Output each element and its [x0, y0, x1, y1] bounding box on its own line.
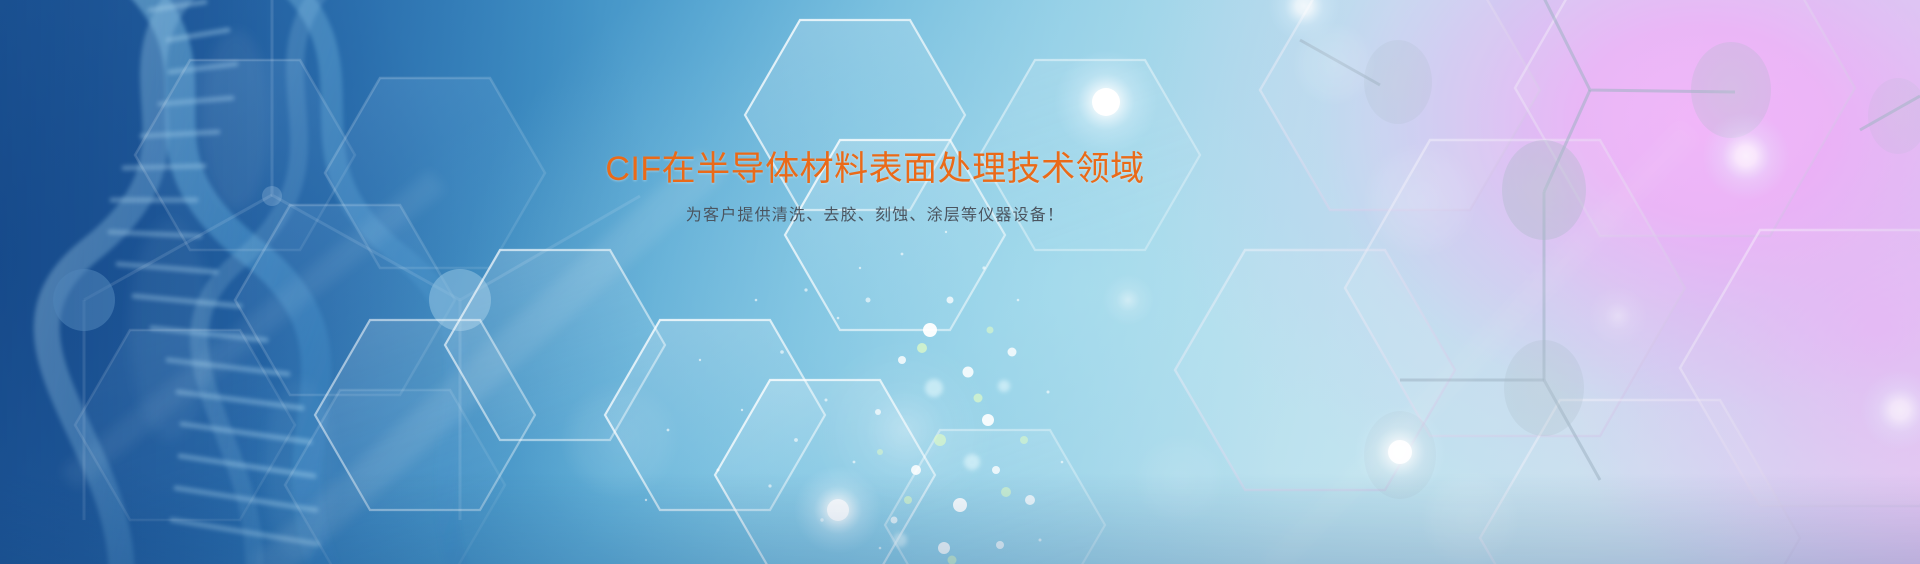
banner-artwork — [0, 0, 1920, 564]
banner-subheadline: 为客户提供清洗、去胶、刻蚀、涂层等仪器设备！ — [605, 205, 1144, 227]
hero-banner: CIF在半导体材料表面处理技术领域 为客户提供清洗、去胶、刻蚀、涂层等仪器设备！ — [0, 0, 1920, 564]
banner-headline: CIF在半导体材料表面处理技术领域 — [605, 148, 1144, 191]
banner-copy: CIF在半导体材料表面处理技术领域 为客户提供清洗、去胶、刻蚀、涂层等仪器设备！ — [0, 148, 1920, 227]
